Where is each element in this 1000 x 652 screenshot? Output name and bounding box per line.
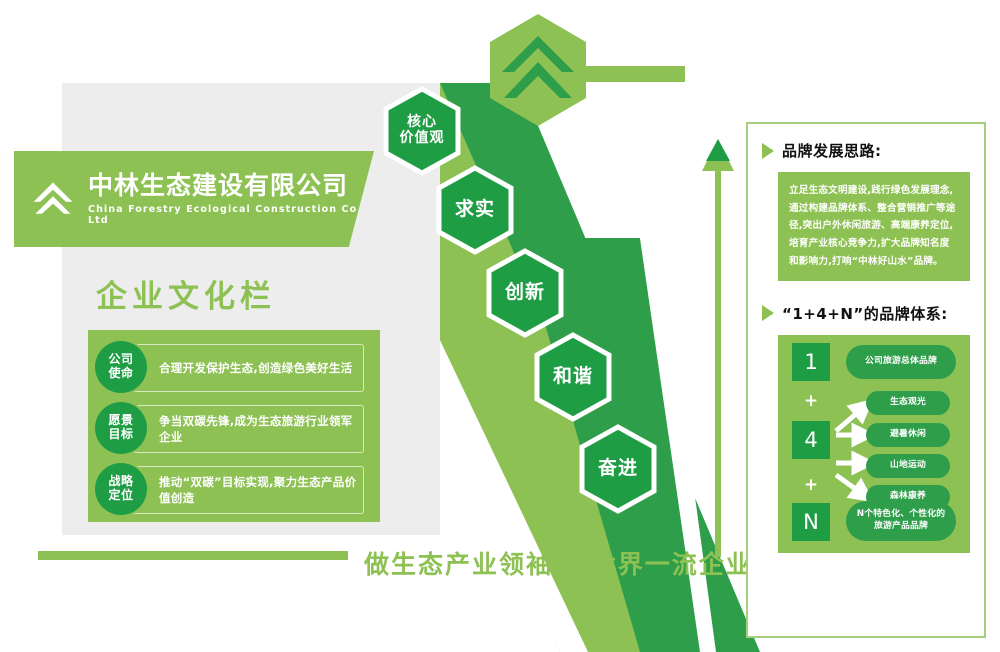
bottom-slogan: 做生态产业领袖 创世界一流企业 [364, 545, 753, 581]
brand-system-diagram: 1 公司旅游总体品牌 + 4 + 生态观光 避暑休闲 山地运动 森林康养 N N… [778, 335, 970, 553]
value-hexagon-innovation-label: 创新 [505, 282, 545, 303]
brand-system-title: “1+4+N”的品牌体系: [782, 303, 948, 324]
value-hexagon-core: 核心 价值观 [382, 86, 462, 176]
node-symbol-4: 4 [792, 421, 830, 459]
value-hexagon-pragmatism-label: 求实 [455, 199, 495, 220]
company-name-block: 中林生态建设有限公司 China Forestry Ecological Con… [88, 172, 374, 226]
hexagon-chevron-emblem-icon [486, 12, 590, 128]
badge-line-2: 定位 [108, 489, 133, 503]
value-hexagon-innovation: 创新 [485, 248, 565, 338]
value-hexagon-harmony-label: 和谐 [553, 366, 593, 387]
badge-line-1: 战略 [108, 475, 133, 489]
value-hexagon-harmony: 和谐 [533, 332, 613, 422]
badge-line-1: 愿景 [108, 414, 133, 428]
badge-line-1: 公司 [108, 353, 133, 367]
node-symbol-n: N [792, 503, 830, 541]
brand-thinking-title: 品牌发展思路: [782, 140, 882, 161]
value-hexagon-pragmatism: 求实 [435, 165, 515, 255]
branch-mountain-sports: 山地运动 [866, 454, 950, 478]
culture-item-mission: 公司 使命 合理开发保护生态,创造绿色美好生活 [106, 344, 364, 392]
bottom-divider-bar [38, 551, 348, 560]
culture-wall-poster: 中林生态建设有限公司 China Forestry Ecological Con… [0, 0, 1000, 652]
brand-thinking-heading: 品牌发展思路: [762, 140, 984, 161]
value-hexagon-striving: 奋进 [578, 424, 658, 514]
chevron-mountain-logo-icon [30, 176, 76, 222]
brand-strategy-panel: 品牌发展思路: 立足生态文明建设,践行绿色发展理念,通过构建品牌体系、整合营销推… [746, 122, 986, 638]
company-name-cn: 中林生态建设有限公司 [88, 172, 374, 200]
brand-thinking-body: 立足生态文明建设,践行绿色发展理念,通过构建品牌体系、整合营销推广等途径,突出户… [789, 182, 959, 271]
node-symbol-1: 1 [792, 343, 830, 381]
culture-text-strategy: 推动“双碳”目标实现,聚力生态产品价值创造 [159, 474, 363, 506]
culture-badge-vision: 愿景 目标 [95, 402, 147, 454]
culture-badge-mission: 公司 使命 [95, 341, 147, 393]
culture-item-vision: 愿景 目标 争当双碳先锋,成为生态旅游行业领军企业 [106, 405, 364, 453]
culture-badge-strategy: 战略 定位 [95, 463, 147, 515]
brand-system-heading: “1+4+N”的品牌体系: [762, 303, 984, 324]
node-symbol-plus-2: + [792, 475, 830, 495]
culture-text-mission: 合理开发保护生态,创造绿色美好生活 [159, 360, 352, 376]
culture-items-box: 公司 使命 合理开发保护生态,创造绿色美好生活 愿景 目标 争当双碳先锋,成为生… [88, 330, 380, 522]
branch-summer-leisure: 避暑休闲 [866, 423, 950, 447]
node-label-n-products: N个特色化、个性化的 旅游产品品牌 [846, 501, 956, 541]
triangle-bullet-icon [762, 143, 774, 159]
node-symbol-plus-1: + [792, 391, 830, 411]
node-label-overall-brand: 公司旅游总体品牌 [846, 345, 956, 379]
value-hexagon-core-label: 核心 价值观 [400, 115, 445, 146]
culture-item-strategy: 战略 定位 推动“双碳”目标实现,聚力生态产品价值创造 [106, 466, 364, 514]
culture-text-vision: 争当双碳先锋,成为生态旅游行业领军企业 [159, 413, 363, 445]
badge-line-2: 目标 [108, 428, 133, 442]
brand-thinking-body-box: 立足生态文明建设,践行绿色发展理念,通过构建品牌体系、整合营销推广等途径,突出户… [778, 172, 970, 281]
triangle-bullet-icon [762, 305, 774, 321]
company-banner: 中林生态建设有限公司 China Forestry Ecological Con… [14, 151, 374, 247]
badge-line-2: 使命 [108, 367, 133, 381]
value-hexagon-striving-label: 奋进 [598, 458, 638, 479]
company-name-en: China Forestry Ecological Construction C… [88, 204, 374, 226]
culture-section-title: 企业文化栏 [96, 271, 276, 316]
branch-eco-tourism: 生态观光 [866, 391, 950, 415]
upward-growth-arrow-icon [700, 137, 736, 557]
